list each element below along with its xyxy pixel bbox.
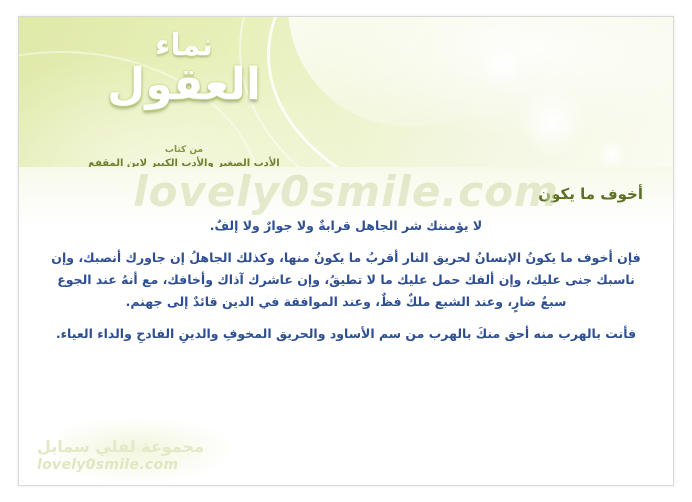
logo-line-top: نماء [19,31,349,61]
slide-card: نماء العقول من كتاب الأدب الصغير والأدب … [18,16,674,486]
header-banner: نماء العقول من كتاب الأدب الصغير والأدب … [19,17,673,185]
paragraph-spacer [47,313,645,323]
logo-line-bottom: العقول [19,63,349,107]
footer-site-text: lovely0smile.com [37,457,204,473]
footer-arabic-text: مجموعة لفلي سمايل [37,437,204,456]
sparkle-icon [597,139,627,169]
logo-wordmark: نماء العقول [19,31,349,107]
slide-page: نماء العقول من كتاب الأدب الصغير والأدب … [0,0,692,502]
page-title: أخوف ما يكون [538,185,643,203]
article-body: لا يؤمننك شر الجاهل قرابةٌ ولا جوارٌ ولا… [47,215,645,345]
article-paragraph: لا يؤمننك شر الجاهل قرابةٌ ولا جوارٌ ولا… [47,215,645,237]
article-paragraph: فإن أخوف ما يكونُ الإنسانُ لحريق النار أ… [47,247,645,313]
source-from-label: من كتاب [19,145,349,155]
source-attribution: من كتاب الأدب الصغير والأدب الكبير لابن … [19,145,349,169]
paragraph-spacer [47,237,645,247]
footer-watermark: مجموعة لفلي سمايل lovely0smile.com [37,437,204,473]
article-paragraph: فأنت بالهرب منه أحق منكَ بالهرب من سم ال… [47,323,645,345]
